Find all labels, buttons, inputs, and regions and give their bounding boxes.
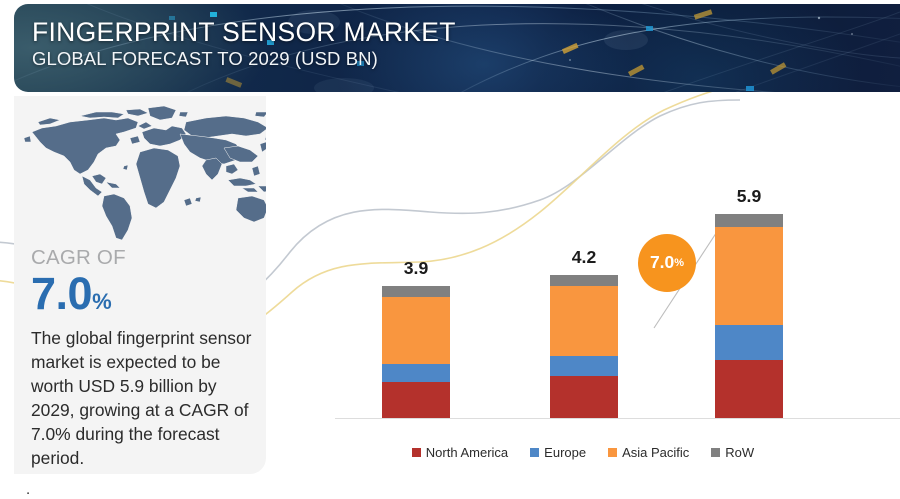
legend-swatch <box>711 448 720 457</box>
header-banner: FINGERPRINT SENSOR MARKET GLOBAL FORECAS… <box>14 4 900 92</box>
legend-swatch <box>608 448 617 457</box>
legend-label: Asia Pacific <box>622 446 689 459</box>
bar-stack <box>715 214 783 418</box>
legend-item[interactable]: North America <box>412 446 508 459</box>
cagr-badge: 7.0% <box>638 234 696 292</box>
left-info-panel: CAGR OF 7.0% The global fingerprint sens… <box>14 96 266 474</box>
trailing-punctuation: . <box>26 482 30 497</box>
legend-label: Europe <box>544 446 586 459</box>
world-map-icon <box>20 104 266 242</box>
infographic-root: FINGERPRINT SENSOR MARKET GLOBAL FORECAS… <box>0 0 900 499</box>
bar-total-label: 4.2 <box>544 249 624 267</box>
cagr-percent-symbol: % <box>92 289 112 314</box>
chart-legend: North AmericaEuropeAsia PacificRoW <box>266 446 900 459</box>
chart-baseline-axis <box>335 418 900 419</box>
legend-swatch <box>530 448 539 457</box>
bar-total-label: 3.9 <box>376 260 456 278</box>
bar-stack <box>550 275 618 418</box>
legend-item[interactable]: Europe <box>530 446 586 459</box>
cagr-label: CAGR OF <box>31 248 261 269</box>
legend-swatch <box>412 448 421 457</box>
bar-segment-europe[interactable] <box>715 325 783 359</box>
header-text-block: FINGERPRINT SENSOR MARKET GLOBAL FORECAS… <box>32 18 456 69</box>
bar-total-label: 5.9 <box>709 188 789 206</box>
bar-segment-north-america[interactable] <box>715 360 783 418</box>
cagr-value: 7.0 <box>31 268 92 319</box>
bar-segment-row[interactable] <box>715 214 783 227</box>
bar-segment-row[interactable] <box>382 286 450 297</box>
bar-segment-north-america[interactable] <box>550 376 618 418</box>
stacked-bar-chart: 7.0% 3.920234.220245.92029 North America… <box>266 96 900 484</box>
bar-segment-asia-pacific[interactable] <box>715 227 783 325</box>
legend-label: North America <box>426 446 508 459</box>
legend-item[interactable]: RoW <box>711 446 754 459</box>
cagr-block: CAGR OF 7.0% <box>31 248 261 316</box>
bar-segment-asia-pacific[interactable] <box>382 297 450 364</box>
cagr-badge-percent: % <box>674 258 684 269</box>
page-title: FINGERPRINT SENSOR MARKET <box>32 18 456 47</box>
bar-segment-asia-pacific[interactable] <box>550 286 618 357</box>
bar-segment-europe[interactable] <box>382 364 450 382</box>
legend-item[interactable]: Asia Pacific <box>608 446 689 459</box>
legend-label: RoW <box>725 446 754 459</box>
cagr-value-row: 7.0% <box>31 271 261 316</box>
world-map-svg <box>20 104 266 242</box>
bar-segment-row[interactable] <box>550 275 618 286</box>
bar-segment-north-america[interactable] <box>382 382 450 418</box>
page-subtitle: GLOBAL FORECAST TO 2029 (USD BN) <box>32 49 456 70</box>
cagr-badge-value: 7.0 <box>650 254 674 272</box>
market-description: The global fingerprint sensor market is … <box>31 326 263 470</box>
bar-stack <box>382 286 450 418</box>
bar-segment-europe[interactable] <box>550 356 618 376</box>
